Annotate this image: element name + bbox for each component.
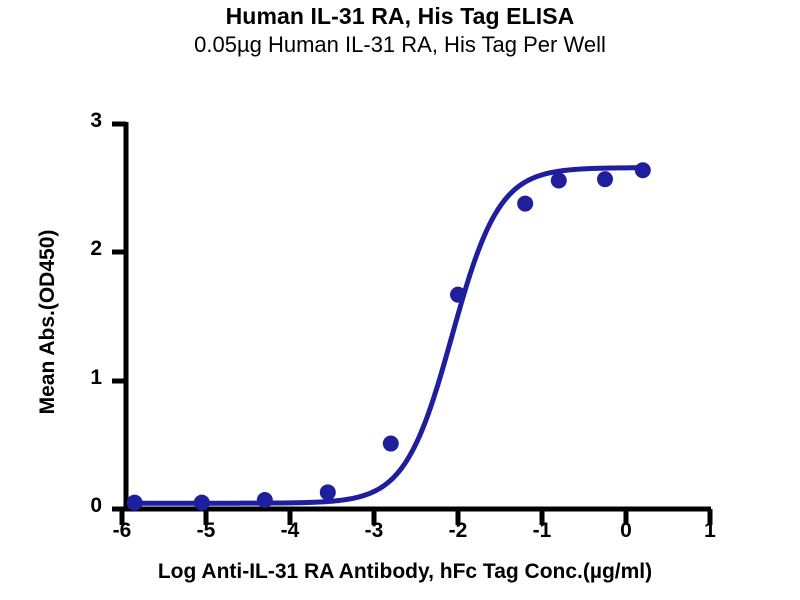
plot-area (0, 0, 800, 600)
data-point-3 (320, 484, 336, 500)
data-point-1 (194, 495, 210, 511)
y-axis-title: Mean Abs.(OD450) (36, 172, 60, 472)
y-tick-label-3: 3 (62, 109, 102, 133)
x-tick-label-0: -6 (102, 519, 142, 543)
y-tick-label-1: 1 (62, 366, 102, 390)
data-point-9 (635, 162, 651, 178)
data-point-5 (450, 287, 466, 303)
data-point-markers (127, 162, 651, 510)
y-tick-label-0: 0 (62, 494, 102, 518)
x-tick-label-4: -2 (438, 519, 478, 543)
data-point-0 (127, 495, 143, 511)
x-tick-label-5: -1 (522, 519, 562, 543)
data-point-8 (597, 171, 613, 187)
x-tick-label-3: -3 (354, 519, 394, 543)
x-tick-label-7: 1 (690, 519, 730, 543)
x-tick-label-2: -4 (270, 519, 310, 543)
elisa-chart-figure: Human IL-31 RA, His Tag ELISA 0.05µg Hum… (0, 0, 800, 600)
x-tick-label-1: -5 (186, 519, 226, 543)
data-point-2 (257, 492, 273, 508)
axes (121, 122, 711, 511)
y-tick-label-2: 2 (62, 237, 102, 261)
data-point-7 (551, 172, 567, 188)
data-point-6 (517, 196, 533, 212)
x-tick-label-6: 0 (606, 519, 646, 543)
x-axis-title: Log Anti-IL-31 RA Antibody, hFc Tag Conc… (40, 560, 770, 584)
sigmoid-fit-curve (135, 168, 643, 503)
data-point-4 (383, 436, 399, 452)
